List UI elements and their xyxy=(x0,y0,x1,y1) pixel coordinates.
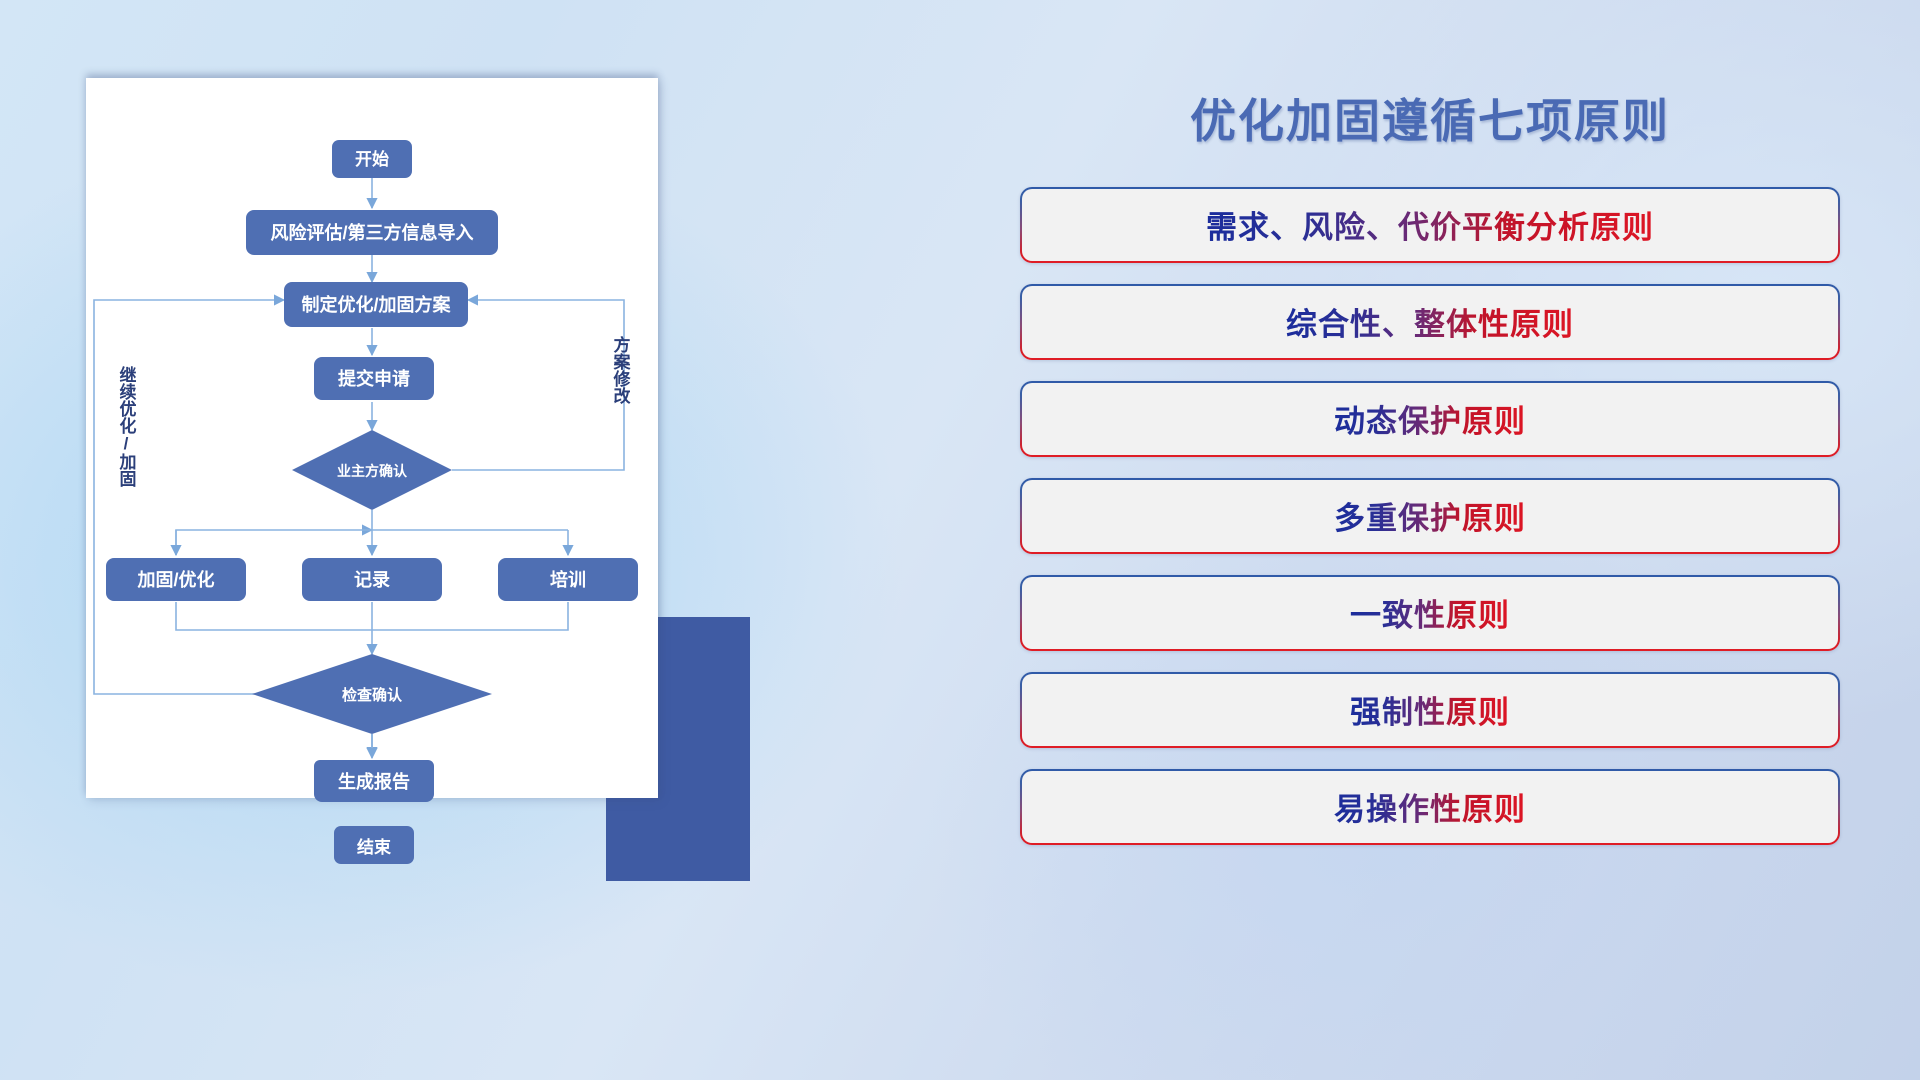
principle-label: 综合性、整体性原则 xyxy=(1286,299,1574,344)
flowchart-panel: 开始 风险评估/第三方信息导入 制定优化/加固方案 提交申请 业主方确认 xyxy=(86,78,658,798)
principle-label: 动态保护原则 xyxy=(1334,396,1526,441)
principle-card[interactable]: 易操作性原则 xyxy=(1020,769,1840,845)
flow-node-submit[interactable]: 提交申请 xyxy=(314,357,434,400)
principle-card-inner: 易操作性原则 xyxy=(1022,771,1838,843)
flow-node-check-label: 检查确认 xyxy=(342,686,403,704)
flow-node-end-box[interactable]: 结束 xyxy=(334,826,414,864)
principles-panel: 优化加固遵循七项原则 需求、风险、代价平衡分析原则 综合性、整体性原则 动态保护… xyxy=(1020,96,1840,996)
flow-node-risk-label: 风险评估/第三方信息导入 xyxy=(271,222,474,243)
flow-node-reinforce-label: 加固/优化 xyxy=(136,569,214,590)
page-title: 优化加固遵循七项原则 xyxy=(1020,96,1840,147)
principle-card[interactable]: 动态保护原则 xyxy=(1020,381,1840,457)
principles-list: 需求、风险、代价平衡分析原则 综合性、整体性原则 动态保护原则 多重保护原则 一… xyxy=(1020,187,1840,845)
flow-edge-label-right-loop: 方案修改 xyxy=(611,335,632,405)
flow-node-check[interactable]: 检查确认 xyxy=(252,654,492,734)
principle-label: 强制性原则 xyxy=(1350,687,1510,732)
flow-node-record[interactable]: 记录 xyxy=(302,558,442,601)
flow-node-training[interactable]: 培训 xyxy=(498,558,638,601)
principle-label: 易操作性原则 xyxy=(1334,784,1526,829)
principle-card[interactable]: 需求、风险、代价平衡分析原则 xyxy=(1020,187,1840,263)
principle-label: 多重保护原则 xyxy=(1334,493,1526,538)
flow-node-reinforce[interactable]: 加固/优化 xyxy=(106,558,246,601)
principle-card[interactable]: 强制性原则 xyxy=(1020,672,1840,748)
flow-node-start-label: 开始 xyxy=(355,149,389,169)
principle-card[interactable]: 一致性原则 xyxy=(1020,575,1840,651)
flow-node-report-text: 生成报告 xyxy=(338,768,410,794)
flow-node-start[interactable]: 开始 xyxy=(332,140,412,178)
flow-edge-label-left-loop: 继续优化/加固 xyxy=(117,365,138,488)
principle-card-inner: 多重保护原则 xyxy=(1022,480,1838,552)
flow-node-owner-confirm[interactable]: 业主方确认 xyxy=(292,430,452,510)
flow-node-end-text: 结束 xyxy=(357,833,391,858)
principle-card[interactable]: 综合性、整体性原则 xyxy=(1020,284,1840,360)
flow-node-owner-confirm-label: 业主方确认 xyxy=(337,463,408,479)
principle-card-inner: 动态保护原则 xyxy=(1022,383,1838,455)
flow-node-plan[interactable]: 制定优化/加固方案 xyxy=(284,282,468,327)
flow-node-record-label: 记录 xyxy=(354,570,390,590)
principle-card-inner: 综合性、整体性原则 xyxy=(1022,286,1838,358)
flow-node-report-box[interactable]: 生成报告 xyxy=(314,760,434,802)
principle-label: 需求、风险、代价平衡分析原则 xyxy=(1206,202,1654,247)
principle-card[interactable]: 多重保护原则 xyxy=(1020,478,1840,554)
principle-label: 一致性原则 xyxy=(1350,590,1510,635)
principle-card-inner: 强制性原则 xyxy=(1022,674,1838,746)
flow-node-submit-label: 提交申请 xyxy=(338,368,410,389)
principle-card-inner: 需求、风险、代价平衡分析原则 xyxy=(1022,189,1838,261)
flowchart-diagram: 开始 风险评估/第三方信息导入 制定优化/加固方案 提交申请 业主方确认 xyxy=(86,78,658,798)
flow-node-risk[interactable]: 风险评估/第三方信息导入 xyxy=(246,210,498,255)
principle-card-inner: 一致性原则 xyxy=(1022,577,1838,649)
flowchart-card: 开始 风险评估/第三方信息导入 制定优化/加固方案 提交申请 业主方确认 xyxy=(86,78,658,798)
flow-node-plan-label: 制定优化/加固方案 xyxy=(301,294,451,315)
flow-node-training-label: 培训 xyxy=(550,569,586,590)
